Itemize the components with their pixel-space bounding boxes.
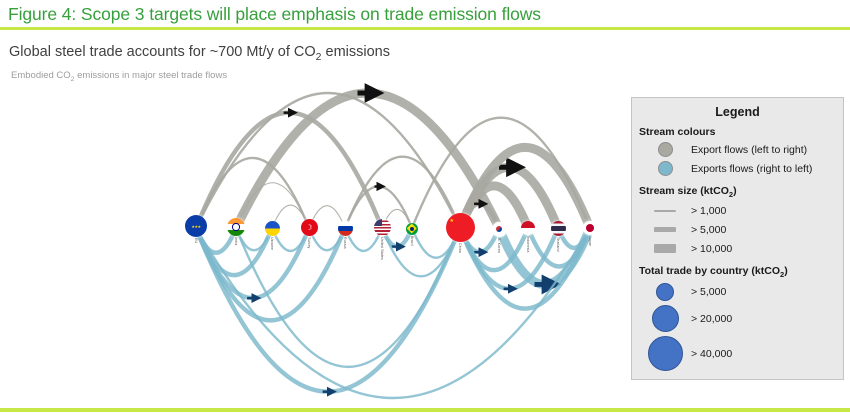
legend-title: Legend: [632, 105, 843, 119]
country-label-united-states: United States: [380, 237, 384, 260]
legend-size-label: > 1,000: [691, 205, 726, 217]
legend-total-trade-post: ): [784, 265, 788, 277]
country-node-ukraine[interactable]: [265, 221, 280, 236]
legend-colour-label: Exports flows (right to left): [691, 163, 812, 175]
legend-total-trade-pre: Total trade by country (ktCO: [639, 265, 780, 277]
legend-stream-size-pre: Stream size (ktCO: [639, 185, 729, 197]
teal-circle-swatch: [639, 161, 691, 176]
country-label-india: India: [234, 237, 238, 245]
country-node-s-korea[interactable]: [492, 222, 507, 237]
legend-colour-label: Export flows (left to right): [691, 144, 807, 156]
stream-width-swatch: [639, 227, 691, 232]
legend-bubble-row: > 20,000: [639, 303, 843, 334]
legend-stream-size-list: > 1,000 > 5,000 > 10,000: [632, 201, 843, 258]
legend-stream-colours-list: Export flows (left to right) Exports flo…: [632, 140, 843, 178]
stream-width-swatch: [639, 244, 691, 253]
legend-total-trade-heading: Total trade by country (ktCO2): [639, 265, 843, 279]
country-label-s-korea: S. Korea: [497, 238, 501, 253]
country-size-bubble: [639, 336, 691, 371]
country-node-eu[interactable]: ★★★: [185, 215, 207, 237]
country-label-china: China: [458, 243, 462, 253]
legend-stream-size-post: ): [733, 185, 737, 197]
grey-circle-swatch: [639, 142, 691, 157]
legend-size-label: > 5,000: [691, 224, 726, 236]
country-node-japan[interactable]: [583, 221, 597, 235]
country-label-thailand: Thailand: [556, 237, 560, 252]
stream-width-swatch: [639, 210, 691, 212]
legend-bubble-label: > 20,000: [691, 313, 732, 325]
country-label-russia: Russia: [343, 237, 347, 249]
legend-stream-colours-heading: Stream colours: [639, 126, 843, 138]
legend-size-row: > 1,000: [639, 201, 843, 220]
country-label-eu: EU: [194, 238, 198, 243]
legend-size-row: > 10,000: [639, 239, 843, 258]
legend-colour-row: Export flows (left to right): [639, 140, 843, 159]
legend-total-trade-list: > 5,000 > 20,000 > 40,000: [632, 281, 843, 373]
arcs-above-axis: [196, 93, 590, 228]
country-label-indonesia: Indonesia: [526, 236, 530, 253]
legend-size-row: > 5,000: [639, 220, 843, 239]
country-node-brazil[interactable]: [406, 223, 418, 235]
legend-colour-row: Exports flows (right to left): [639, 159, 843, 178]
bottom-rule: [0, 408, 850, 412]
country-node-united-states[interactable]: [374, 219, 391, 236]
flow-arc-russia-to-china[interactable]: [345, 157, 460, 228]
country-node-india[interactable]: [227, 218, 245, 236]
country-node-china[interactable]: ★: [446, 213, 475, 242]
country-label-ukraine: Ukraine: [270, 237, 274, 250]
country-node-indonesia[interactable]: [521, 221, 535, 235]
legend-bubble-row: > 40,000: [639, 334, 843, 373]
legend-panel: Legend Stream colours Export flows (left…: [631, 97, 844, 380]
legend-stream-size-heading: Stream size (ktCO2): [639, 185, 843, 199]
country-size-bubble: [639, 283, 691, 301]
country-size-bubble: [639, 305, 691, 332]
country-node-russia[interactable]: [338, 221, 353, 236]
legend-bubble-label: > 40,000: [691, 348, 732, 360]
arcs-below-axis: [196, 228, 590, 398]
country-node-thailand[interactable]: [551, 221, 566, 236]
country-node-turkey[interactable]: ☽: [301, 219, 318, 236]
legend-bubble-row: > 5,000: [639, 281, 843, 303]
country-label-japan: Japan: [588, 236, 592, 246]
country-label-brazil: Brazil: [410, 236, 414, 246]
arc-diagram-plot: ★★★EUIndiaUkraine☽TurkeyRussiaUnited Sta…: [0, 0, 628, 406]
flow-arcs-layer: [0, 0, 628, 406]
legend-size-label: > 10,000: [691, 243, 732, 255]
legend-bubble-label: > 5,000: [691, 286, 726, 298]
country-label-turkey: Turkey: [307, 237, 311, 248]
